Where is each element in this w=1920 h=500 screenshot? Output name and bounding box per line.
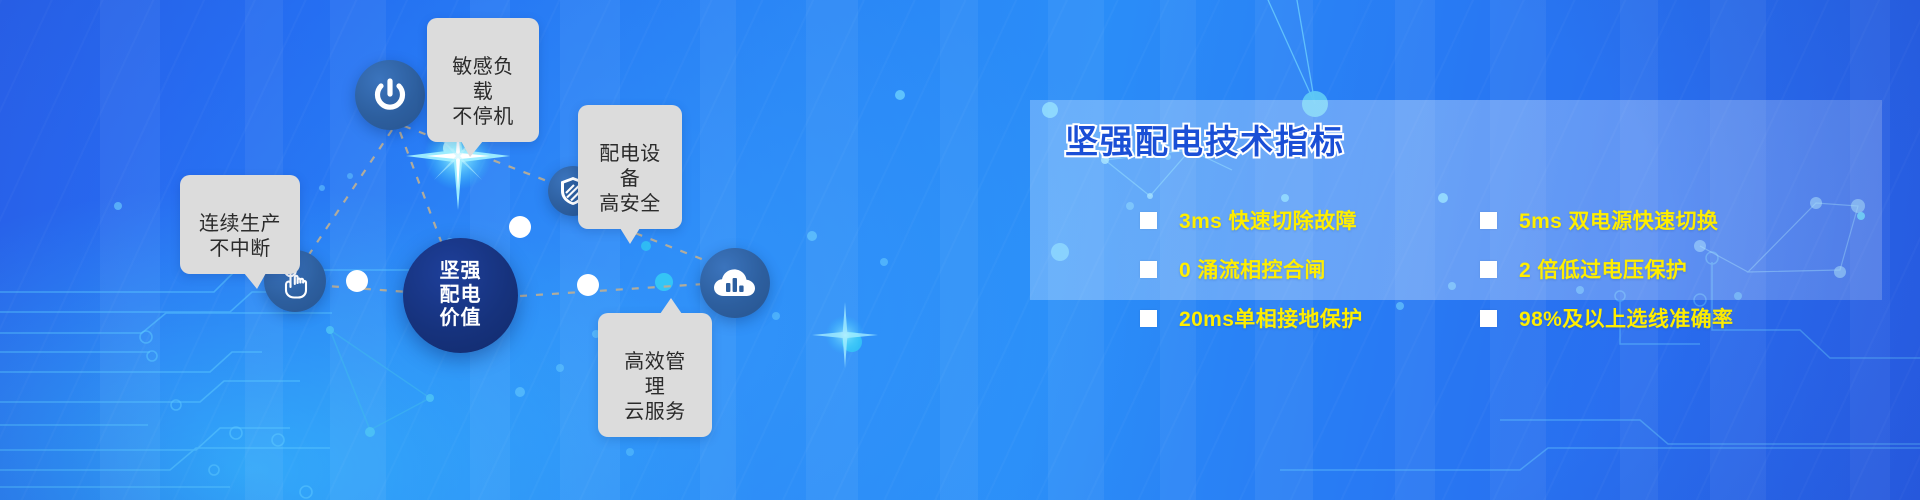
vignette-overlay — [0, 0, 1920, 500]
banner-stage: 坚强 配电 价值 敏感负载 不停机 配电设备 高安全 连续生产 不中断 高效管理… — [0, 0, 1920, 500]
